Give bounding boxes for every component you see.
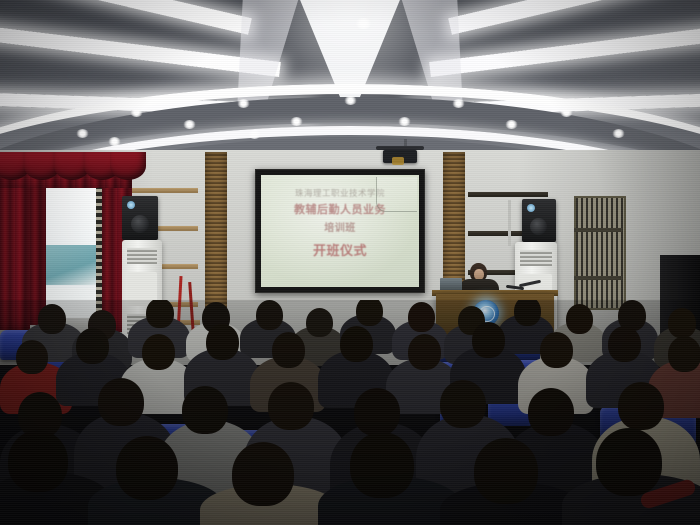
curtain-swag [110, 152, 146, 180]
audience-head [350, 432, 414, 498]
audience-head [408, 302, 435, 332]
audience-head [232, 442, 294, 506]
audience-head [38, 304, 66, 334]
audience-head [474, 438, 538, 504]
downlight-icon [398, 117, 411, 126]
projection-screen: 珠海理工职业技术学院 教辅后勤人员业务 培训班 开班仪式 [255, 169, 425, 293]
downlight-icon [248, 130, 261, 139]
audience-head [566, 304, 593, 334]
audience-head [356, 300, 383, 326]
audience-head [408, 334, 441, 370]
audience-head [472, 322, 505, 358]
audience-head [514, 300, 541, 326]
downlight-icon [355, 18, 372, 29]
ac-vent-top [520, 250, 552, 266]
audience-head [256, 300, 283, 330]
audience-head [354, 388, 400, 436]
speaker-cone-icon [131, 215, 149, 233]
audience [0, 300, 700, 525]
audience-head [618, 382, 664, 430]
slide-line-3: 培训班 [261, 219, 419, 234]
curtain-valance [0, 152, 132, 188]
barred-window [574, 196, 626, 310]
ac-vent-top [127, 248, 157, 264]
speaker-indicator-icon [527, 204, 535, 212]
screen-reflection [376, 177, 417, 212]
wall-speaker-left [122, 196, 158, 240]
ceiling [0, 0, 700, 160]
downlight-icon [108, 137, 121, 146]
audience-head [76, 328, 109, 364]
audience-head [668, 336, 700, 372]
audience-head [340, 326, 373, 362]
audience-head [146, 300, 174, 328]
wall-speaker-right [522, 199, 556, 242]
downlight-icon [344, 96, 357, 105]
wall-trim-strip [132, 188, 198, 193]
audience-head [142, 334, 175, 370]
barred-window-rail [574, 276, 622, 280]
audience-head [206, 324, 239, 360]
downlight-icon [130, 108, 143, 117]
downlight-icon [560, 108, 573, 117]
audience-head [272, 332, 305, 368]
downlight-icon [76, 129, 89, 138]
audience-head [608, 326, 641, 362]
audience-head [668, 308, 696, 338]
audience-head [116, 436, 178, 500]
downlight-icon [183, 120, 196, 129]
speaker-indicator-icon [127, 201, 135, 209]
barred-window-rail [574, 228, 622, 232]
downlight-icon [290, 117, 303, 126]
audience-head [268, 382, 314, 430]
downlight-icon [612, 129, 625, 138]
audience-head [8, 430, 68, 492]
audience-head [306, 308, 333, 337]
audience-head [596, 428, 662, 496]
wall-trim-band [468, 192, 548, 197]
audience-head [440, 380, 486, 428]
screen-surface: 珠海理工职业技术学院 教辅后勤人员业务 培训班 开班仪式 [261, 175, 419, 287]
ac-conduit-pipe [508, 200, 511, 246]
downlight-icon [237, 99, 250, 108]
projector-lens-icon [392, 157, 404, 165]
speaker-cone-icon [530, 218, 547, 235]
downlight-icon [505, 120, 518, 129]
audience-head [540, 332, 573, 368]
audience-head [16, 340, 48, 374]
auditorium-photo: 珠海理工职业技术学院 教辅后勤人员业务 培训班 开班仪式 [0, 0, 700, 525]
audience-head [182, 386, 228, 434]
downlight-icon [452, 99, 465, 108]
slide-line-4: 开班仪式 [261, 240, 419, 259]
audience-head [528, 388, 574, 436]
audience-head [98, 378, 144, 426]
